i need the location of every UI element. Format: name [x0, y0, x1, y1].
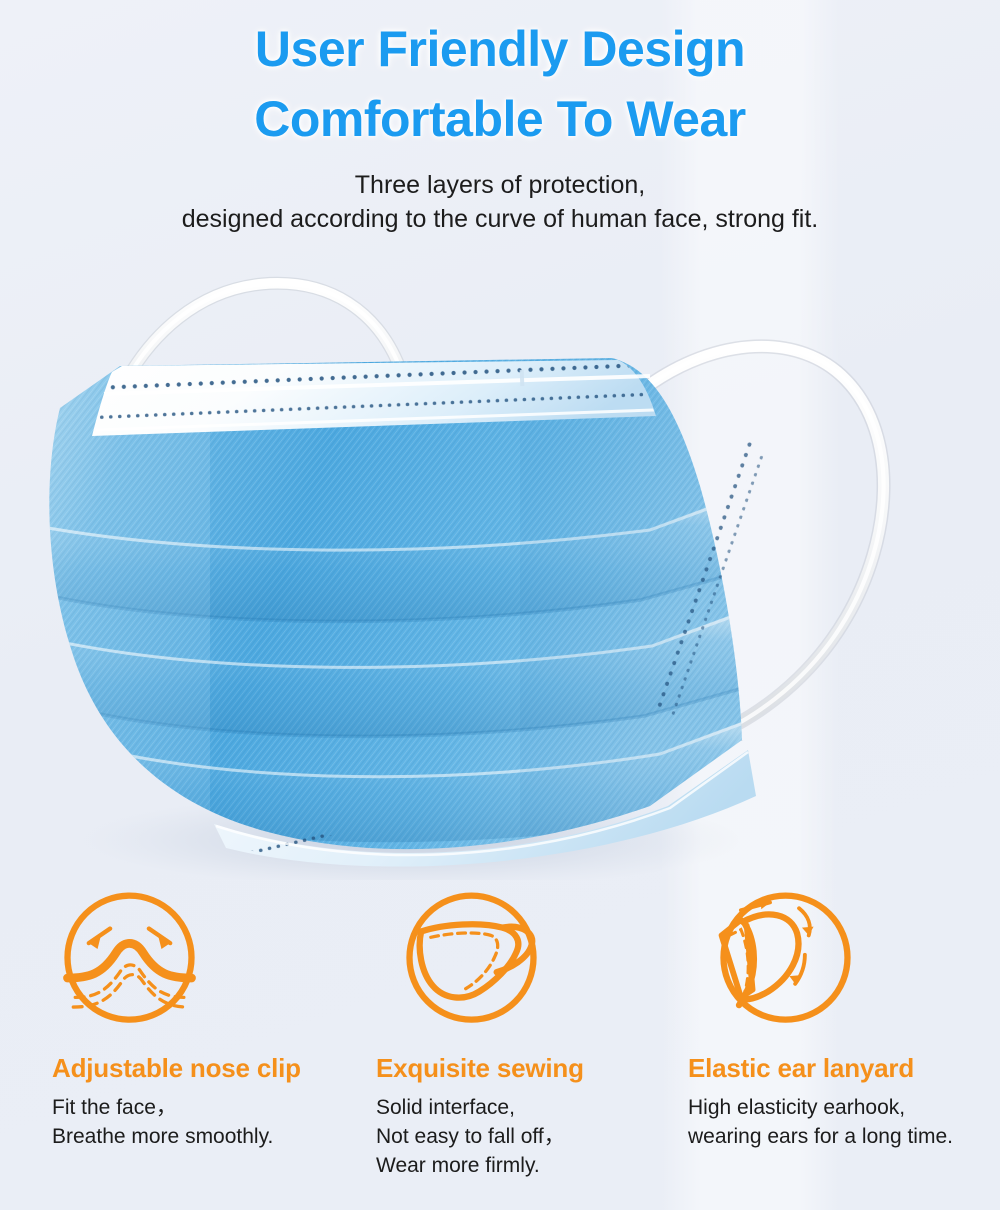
headline-line-2: Comfortable To Wear [0, 84, 1000, 154]
mask-sewing-icon [394, 885, 549, 1040]
subtitle-line-2: designed according to the curve of human… [0, 202, 1000, 236]
feature-body-line-1: Solid interface, [376, 1093, 688, 1122]
feature-list: Adjustable nose clip Fit the face， Breat… [0, 885, 1000, 1195]
nose-wire-notch [520, 370, 525, 386]
feature-item-ear-lanyard: Elastic ear lanyard High elasticity earh… [688, 885, 1000, 1195]
feature-title: Elastic ear lanyard [688, 1053, 1000, 1084]
feature-body-line-2: Breathe more smoothly. [52, 1122, 364, 1151]
feature-title: Adjustable nose clip [52, 1053, 364, 1084]
feature-body-line-3: Wear more firmly. [376, 1151, 688, 1180]
feature-body-line-2: Not easy to fall off， [376, 1122, 688, 1151]
ear-lanyard-icon [708, 885, 863, 1040]
feature-item-sewing: Exquisite sewing Solid interface, Not ea… [364, 885, 688, 1195]
feature-body-line-1: Fit the face， [52, 1093, 364, 1122]
page-subtitle: Three layers of protection, designed acc… [0, 168, 1000, 236]
feature-body-line-1: High elasticity earhook, [688, 1093, 1000, 1122]
subtitle-line-1: Three layers of protection, [0, 168, 1000, 202]
feature-item-nose-clip: Adjustable nose clip Fit the face， Breat… [0, 885, 364, 1195]
feature-title: Exquisite sewing [376, 1053, 688, 1084]
feature-body: Solid interface, Not easy to fall off， W… [376, 1093, 688, 1180]
nose-clip-icon [52, 885, 207, 1040]
product-image [0, 240, 1000, 880]
headline-line-1: User Friendly Design [255, 21, 745, 77]
feature-body: Fit the face， Breathe more smoothly. [52, 1093, 364, 1151]
page-title: User Friendly Design Comfortable To Wear [0, 14, 1000, 154]
infographic-page: User Friendly Design Comfortable To Wear… [0, 0, 1000, 1210]
feature-body-line-2: wearing ears for a long time. [688, 1122, 1000, 1151]
feature-body: High elasticity earhook, wearing ears fo… [688, 1093, 1000, 1151]
